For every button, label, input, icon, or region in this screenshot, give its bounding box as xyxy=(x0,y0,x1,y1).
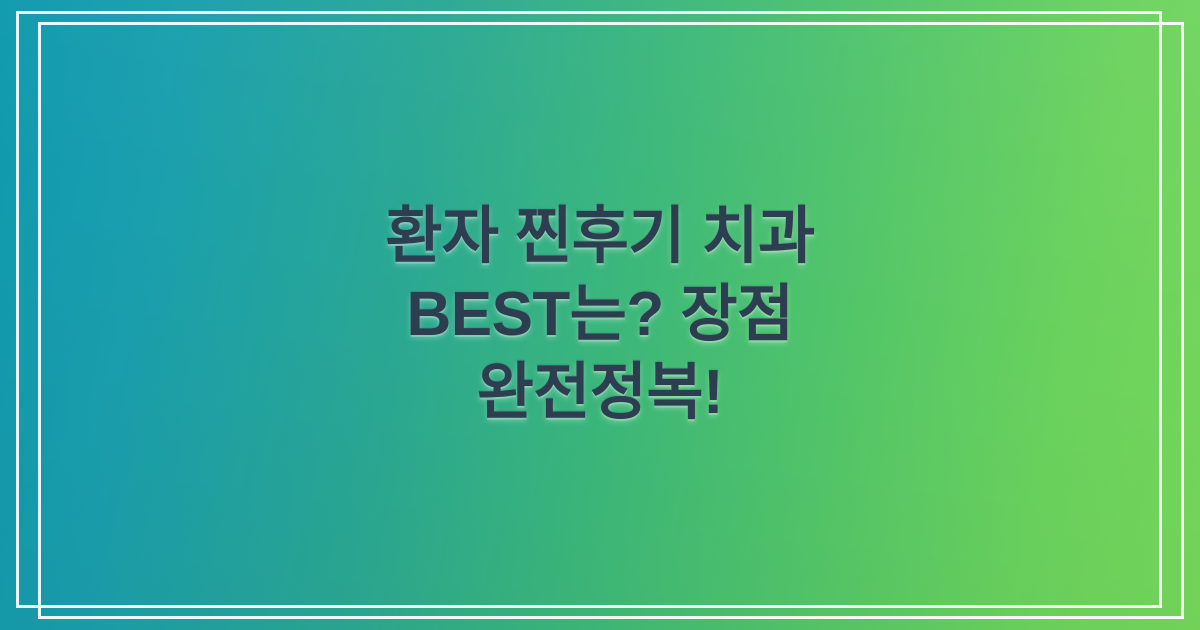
title-line-3: 완전정복! xyxy=(385,354,814,432)
title-line-1: 환자 찐후기 치과 xyxy=(385,198,814,276)
page-title: 환자 찐후기 치과 BEST는? 장점 완전정복! xyxy=(385,198,814,432)
title-block: 환자 찐후기 치과 BEST는? 장점 완전정복! xyxy=(0,0,1200,630)
thumbnail-card: 환자 찐후기 치과 BEST는? 장점 완전정복! xyxy=(0,0,1200,630)
title-line-2: BEST는? 장점 xyxy=(385,276,814,354)
